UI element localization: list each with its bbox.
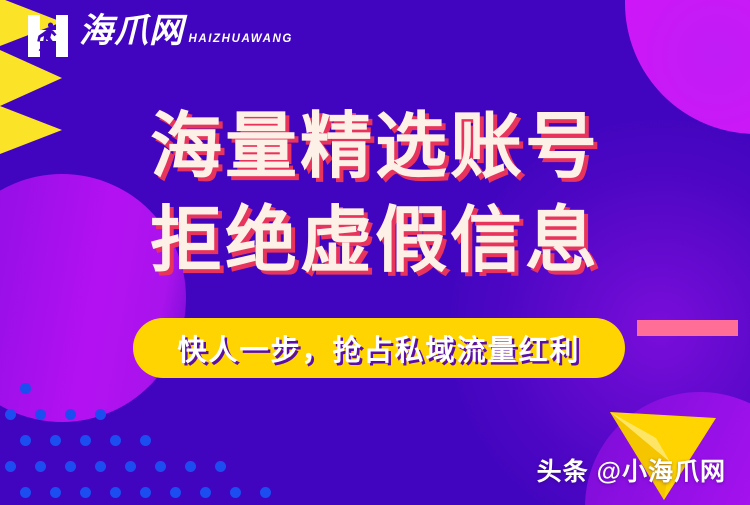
dot <box>20 383 31 394</box>
watermark-credit: 头条 @小海爪网 <box>537 452 726 488</box>
h-monogram-runner-icon <box>26 13 70 59</box>
pink-bar-shape <box>637 320 738 336</box>
dot <box>20 435 31 446</box>
logo-name-en: HAIZHUAWANG <box>188 33 293 45</box>
dot <box>65 461 76 472</box>
dot <box>20 487 31 498</box>
dot <box>185 461 196 472</box>
headline-line-2: 拒绝虚假信息 <box>0 194 750 288</box>
logo-name-cn: 海爪网 <box>79 12 184 50</box>
subhead-pill[interactable]: 快人一步，抢占私域流量红利 <box>133 318 625 378</box>
dot <box>35 409 46 420</box>
logo-text-block: 海爪网 HAIZHUAWANG <box>79 13 293 48</box>
dot <box>50 487 61 498</box>
dot <box>80 435 91 446</box>
dot <box>110 487 121 498</box>
dot <box>260 487 271 498</box>
dot <box>80 487 91 498</box>
dot <box>215 461 226 472</box>
dot <box>125 461 136 472</box>
dot <box>5 461 16 472</box>
dot <box>140 487 151 498</box>
dot <box>5 409 16 420</box>
dot <box>110 435 121 446</box>
subhead-text: 快人一步，抢占私域流量红利 <box>177 327 580 369</box>
dot-pattern <box>0 375 330 505</box>
headline-block: 海量精选账号 拒绝虚假信息 <box>0 100 750 288</box>
dot <box>200 487 211 498</box>
dot <box>50 435 61 446</box>
dot <box>140 435 151 446</box>
dot <box>155 461 166 472</box>
site-logo[interactable]: 海爪网 HAIZHUAWANG <box>26 13 293 59</box>
promotional-banner: 海爪网 HAIZHUAWANG 海量精选账号 拒绝虚假信息 快人一步，抢占私域流… <box>0 0 750 505</box>
dot <box>35 461 46 472</box>
dot <box>230 487 241 498</box>
dot <box>65 409 76 420</box>
dot <box>170 487 181 498</box>
headline-line-1: 海量精选账号 <box>0 100 750 194</box>
dot <box>95 409 106 420</box>
dot <box>95 461 106 472</box>
